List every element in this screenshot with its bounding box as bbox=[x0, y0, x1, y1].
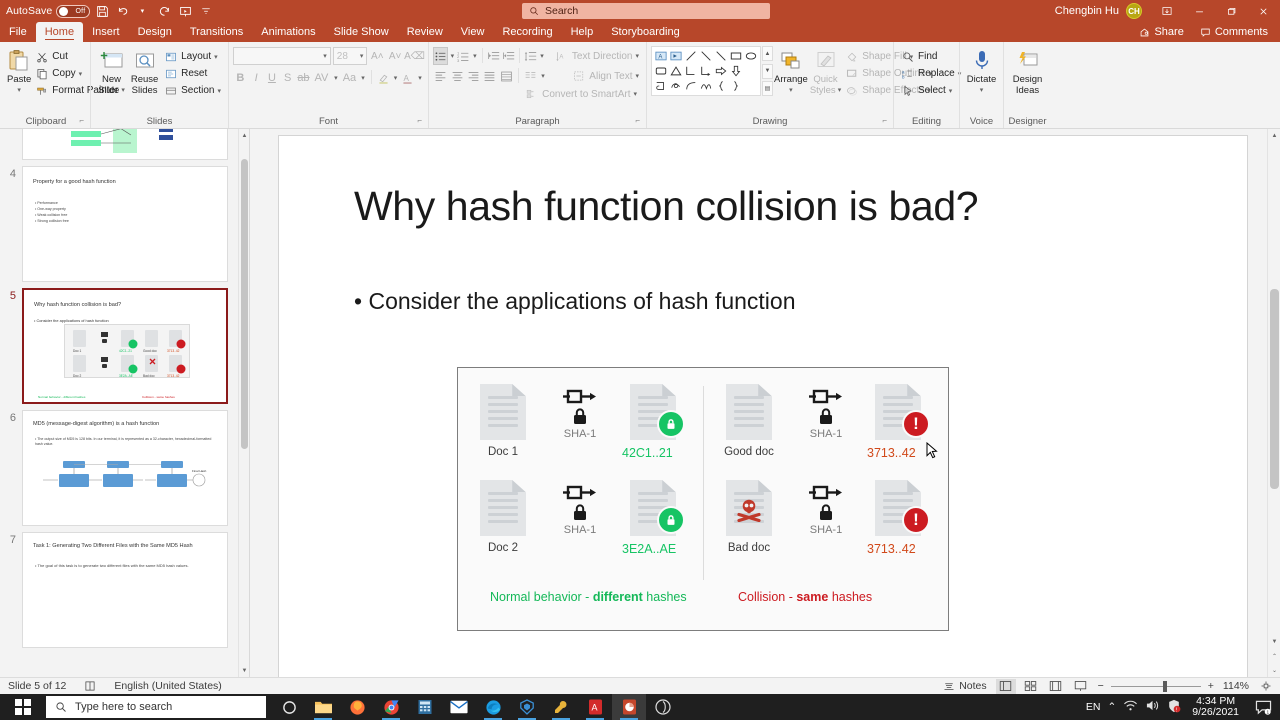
numbering-icon[interactable]: 123 bbox=[457, 47, 471, 65]
dictate-button[interactable]: Dictate ▾ bbox=[964, 46, 999, 98]
svg-text:a: a bbox=[902, 69, 905, 74]
hash-arrow-icon bbox=[563, 388, 597, 406]
tab-home[interactable]: Home bbox=[36, 22, 83, 42]
slide-editor-pane[interactable]: Why hash function collision is bad? Cons… bbox=[250, 129, 1280, 677]
shape-fill-icon bbox=[845, 50, 859, 64]
bold-icon[interactable]: B bbox=[233, 69, 248, 87]
align-right-icon[interactable] bbox=[466, 67, 481, 85]
curve-shape-icon[interactable] bbox=[684, 79, 698, 93]
increase-indent-icon[interactable] bbox=[502, 47, 516, 65]
operation-label: SHA-1 bbox=[564, 524, 596, 536]
shapes-gallery-scroll[interactable]: ▲ ▼ ▤ bbox=[762, 46, 773, 96]
start-presentation-icon[interactable] bbox=[175, 1, 196, 21]
clock-date: 9/26/2021 bbox=[1192, 707, 1239, 718]
slide-scroll-up-icon[interactable]: ▲ bbox=[1268, 129, 1280, 143]
section-button[interactable]: Section ▾ bbox=[161, 82, 224, 99]
diagram-left-caption: Normal behavior - different hashes bbox=[490, 590, 687, 604]
slide-canvas[interactable]: Why hash function collision is bad? Cons… bbox=[279, 136, 1247, 677]
replace-icon: ab bbox=[901, 67, 915, 81]
restore-icon[interactable] bbox=[1216, 0, 1246, 22]
reading-view-icon[interactable] bbox=[1046, 679, 1066, 694]
normal-view-icon[interactable] bbox=[996, 679, 1016, 694]
tab-design[interactable]: Design bbox=[129, 22, 181, 42]
zoom-thumb[interactable] bbox=[1163, 681, 1167, 692]
thumbnail-canvas[interactable]: Keys HashFunction Hashes bbox=[22, 129, 228, 160]
svg-text:b: b bbox=[902, 74, 905, 79]
design-ideas-label2: Ideas bbox=[1016, 85, 1039, 96]
hash-arrow-icon bbox=[809, 388, 843, 406]
svg-text:Final Hash: Final Hash bbox=[192, 469, 207, 473]
tab-recording[interactable]: Recording bbox=[493, 22, 561, 42]
thumbnail-bullet: Strong collision free bbox=[35, 218, 219, 224]
replace-label: Replace bbox=[918, 68, 955, 79]
layout-dropdown-icon[interactable]: ▾ bbox=[214, 53, 218, 61]
layout-button[interactable]: Layout ▾ bbox=[161, 48, 224, 65]
comments-label: Comments bbox=[1215, 26, 1268, 38]
diagram-left-row1-op: SHA-1 bbox=[553, 388, 607, 440]
shape-outline-icon bbox=[845, 67, 859, 81]
diagram-left-row1-hash: 42C1..21 bbox=[630, 384, 676, 460]
search-icon bbox=[55, 701, 67, 713]
oval-shape-icon[interactable] bbox=[744, 49, 758, 63]
mail-icon[interactable] bbox=[442, 694, 476, 720]
undo-icon[interactable] bbox=[113, 1, 134, 21]
svg-text:3E2A..AE: 3E2A..AE bbox=[119, 374, 133, 378]
security-alert-icon[interactable]: ! bbox=[1167, 699, 1181, 716]
ribbon-display-options-icon[interactable] bbox=[1152, 0, 1182, 22]
powerpoint-window: AutoSave Off ▾ MD5 Collision At bbox=[0, 0, 1280, 720]
columns-dropdown-icon[interactable]: ▾ bbox=[539, 67, 547, 85]
notes-button[interactable]: Notes bbox=[939, 679, 990, 693]
thumbnail-scrollbar[interactable]: ▲ ▼ bbox=[238, 129, 249, 677]
customize-quick-access-icon[interactable] bbox=[196, 1, 216, 21]
svg-text:A: A bbox=[559, 54, 563, 60]
elbow-connector-icon[interactable] bbox=[684, 64, 698, 78]
align-left-icon[interactable] bbox=[433, 67, 448, 85]
find-icon bbox=[901, 50, 915, 64]
acrobat-icon[interactable]: A bbox=[578, 694, 612, 720]
action-center-icon[interactable]: 1 bbox=[1250, 694, 1276, 720]
character-spacing-icon[interactable]: AV bbox=[312, 69, 331, 87]
text-direction-button[interactable]: A Text Direction ▾ bbox=[552, 48, 642, 65]
find-button[interactable]: Find bbox=[898, 48, 964, 65]
paragraph-dialog-launcher[interactable]: ⌐ bbox=[635, 114, 640, 127]
paste-button[interactable]: Paste ▾ bbox=[6, 46, 32, 98]
down-arrow-shape-icon[interactable] bbox=[729, 64, 743, 78]
cortana-icon[interactable] bbox=[272, 694, 306, 720]
diagram-right-row1-hash: ! 3713..42 bbox=[875, 384, 921, 460]
new-slide-label2: Slide bbox=[98, 85, 119, 96]
clipboard-dialog-launcher[interactable]: ⌐ bbox=[79, 114, 84, 127]
slide-scroll-down-icon[interactable]: ▼ bbox=[1268, 635, 1280, 649]
reuse-slides-label2: Slides bbox=[132, 85, 158, 96]
convert-to-smartart-label: Convert to SmartArt bbox=[542, 89, 630, 100]
diagram-divider bbox=[703, 386, 704, 580]
slide-bullet[interactable]: Consider the applications of hash functi… bbox=[354, 288, 796, 315]
comments-button[interactable]: Comments bbox=[1194, 25, 1274, 39]
doc-label: Bad doc bbox=[719, 542, 779, 554]
format-painter-icon bbox=[35, 84, 49, 98]
arrange-button[interactable]: Arrange ▾ bbox=[773, 46, 809, 98]
reset-label: Reset bbox=[181, 68, 207, 79]
slide-sorter-icon[interactable] bbox=[1021, 679, 1041, 694]
slides-group-label: Slides bbox=[95, 115, 224, 128]
tab-help[interactable]: Help bbox=[562, 22, 603, 42]
paragraph-group-label: Paragraph ⌐ bbox=[433, 115, 642, 128]
doc-label: Doc 1 bbox=[480, 446, 526, 458]
ribbon-tabs: FileHomeInsertDesignTransitionsAnimation… bbox=[0, 22, 1280, 42]
autosave-toggle[interactable]: Off bbox=[56, 5, 90, 18]
document-icon bbox=[630, 480, 676, 536]
quick-styles-button[interactable]: Quick Styles▾ bbox=[809, 46, 842, 98]
thumbnail-canvas[interactable]: Property for a good hash function Perfor… bbox=[22, 166, 228, 282]
thumbnail-subtitle: • Consider the applications of hash func… bbox=[34, 318, 109, 323]
tab-view[interactable]: View bbox=[452, 22, 494, 42]
ribbon-group-font: ▾ 28 ▾ A˄ A˅ A⌫ B I U S ab AV bbox=[228, 42, 428, 128]
diagram-left-row2-doc: Doc 2 bbox=[480, 480, 526, 554]
language-indicator[interactable]: EN bbox=[1086, 701, 1101, 713]
rectangle-shape-icon[interactable] bbox=[729, 49, 743, 63]
fit-slide-to-window-icon[interactable] bbox=[1256, 679, 1276, 693]
rounded-rect-shape-icon[interactable] bbox=[654, 64, 668, 78]
window-controls: Chengbin Hu CH bbox=[1055, 0, 1280, 22]
double-arrow-shape-icon[interactable] bbox=[714, 49, 728, 63]
reuse-slides-button[interactable]: Reuse Slides bbox=[128, 46, 161, 98]
align-text-label: Align Text bbox=[589, 71, 632, 82]
tools-icon[interactable] bbox=[544, 694, 578, 720]
thumbnail-canvas[interactable]: Task 1: Generating Two Different Files w… bbox=[22, 532, 228, 648]
thumbnail-bullets: The output size of MD5 is 128 bits. In o… bbox=[35, 437, 219, 447]
slide-show-icon[interactable] bbox=[1071, 679, 1091, 694]
autosave-state: Off bbox=[76, 8, 86, 15]
zoom-in-button[interactable]: + bbox=[1206, 680, 1216, 692]
select-button[interactable]: Select ▾ bbox=[898, 82, 964, 99]
thumbnail-slide-7[interactable]: 7 Task 1: Generating Two Different Files… bbox=[0, 529, 238, 651]
columns-icon[interactable] bbox=[523, 67, 538, 85]
unknown-icon[interactable] bbox=[646, 694, 680, 720]
zoom-track[interactable] bbox=[1111, 686, 1201, 687]
hash-value: 3713..42 bbox=[867, 542, 921, 556]
line-shape-icon[interactable] bbox=[684, 49, 698, 63]
diagram-right-row2-doc: Bad doc bbox=[726, 480, 779, 554]
skull-icon bbox=[736, 498, 762, 522]
underline-icon[interactable]: U bbox=[265, 69, 280, 87]
taskbar-search-placeholder: Type here to search bbox=[75, 701, 172, 713]
reuse-slides-label1: Reuse bbox=[131, 74, 158, 85]
avatar[interactable]: CH bbox=[1126, 3, 1142, 19]
thumbnail-caption-green: Normal behavior - different hashes bbox=[38, 395, 85, 399]
numbering-dropdown-icon[interactable]: ▾ bbox=[471, 47, 478, 65]
section-dropdown-icon[interactable]: ▾ bbox=[217, 87, 221, 95]
slide-pane-scrollbar[interactable]: ▲ ▼ ⌃ ⌄ bbox=[1267, 129, 1280, 677]
font-name-input[interactable]: ▾ bbox=[233, 47, 331, 65]
title-bar: AutoSave Off ▾ MD5 Collision At bbox=[0, 0, 1280, 22]
operation-label: SHA-1 bbox=[810, 524, 842, 536]
powerpoint-icon[interactable] bbox=[612, 694, 646, 720]
thumbnail-slide-3[interactable]: 3 Keys HashFunction Hashes bbox=[0, 129, 238, 163]
thumbnail-scroll-down-icon[interactable]: ▼ bbox=[239, 664, 250, 677]
scribble-shape-icon[interactable] bbox=[669, 79, 683, 93]
layout-label: Layout bbox=[181, 51, 211, 62]
font-size-dropdown-icon[interactable]: ▾ bbox=[360, 52, 364, 60]
elbow-arrow-connector-icon[interactable] bbox=[699, 64, 713, 78]
scissors-icon bbox=[35, 50, 49, 64]
svg-text:!: ! bbox=[1176, 707, 1177, 713]
find-label: Find bbox=[918, 51, 937, 62]
line-arrow-shape-icon[interactable] bbox=[699, 49, 713, 63]
ribbon-group-clipboard: Paste ▾ Cut Copy ▾ bbox=[2, 42, 90, 128]
arrange-dropdown-icon[interactable]: ▾ bbox=[789, 85, 793, 96]
thumbnail-title: MD5 (message-digest algorithm) is a hash… bbox=[33, 421, 219, 428]
line-spacing-dropdown-icon[interactable]: ▾ bbox=[539, 47, 546, 65]
replace-button[interactable]: ab Replace ▾ bbox=[898, 65, 964, 82]
ribbon-group-designer: Design Ideas Designer bbox=[1003, 42, 1051, 128]
doc-label: Doc 2 bbox=[480, 542, 526, 554]
grow-font-icon[interactable]: A˄ bbox=[369, 47, 385, 65]
align-text-button[interactable]: Align Text ▾ bbox=[569, 68, 642, 85]
operation-label: SHA-1 bbox=[564, 428, 596, 440]
paste-icon bbox=[8, 48, 30, 74]
scrollbar-more-placeholder bbox=[744, 79, 758, 93]
text-direction-icon: A bbox=[555, 49, 569, 63]
select-icon bbox=[901, 84, 915, 98]
autosave-label: AutoSave bbox=[6, 5, 52, 17]
svg-text:Bad doc: Bad doc bbox=[143, 374, 155, 378]
undo-dropdown-icon[interactable]: ▾ bbox=[134, 1, 154, 21]
tab-file[interactable]: File bbox=[0, 22, 36, 42]
diagram-right-row1-doc: Good doc bbox=[726, 384, 779, 458]
shapes-scroll-down-icon[interactable]: ▼ bbox=[762, 64, 773, 79]
clear-formatting-icon[interactable]: A⌫ bbox=[405, 47, 424, 65]
text-highlight-color-icon[interactable] bbox=[376, 69, 391, 87]
shapes-more-icon[interactable]: ▤ bbox=[762, 81, 773, 96]
svg-text:42C1..21: 42C1..21 bbox=[119, 349, 132, 353]
thumbnail-number: 5 bbox=[0, 288, 22, 302]
font-name-dropdown-icon[interactable]: ▾ bbox=[323, 52, 327, 60]
left-brace-shape-icon[interactable] bbox=[714, 79, 728, 93]
thumbnail-number: 7 bbox=[0, 532, 22, 546]
svg-text:3713..42: 3713..42 bbox=[167, 374, 180, 378]
reset-icon bbox=[164, 67, 178, 81]
lock-icon bbox=[816, 406, 836, 426]
tab-transitions[interactable]: Transitions bbox=[181, 22, 252, 42]
vmware-icon[interactable] bbox=[510, 694, 544, 720]
thumbnail-diagram: Final Hash bbox=[41, 461, 211, 491]
quick-styles-label2: Styles bbox=[810, 85, 836, 96]
editing-group-label: Editing bbox=[898, 115, 955, 128]
section-icon bbox=[164, 84, 178, 98]
slide-diagram-image[interactable]: Doc 1 SHA-1 bbox=[457, 367, 949, 631]
diagram-right-row2-hash: ! 3713..42 bbox=[875, 480, 921, 556]
font-color-icon[interactable]: A bbox=[400, 69, 415, 87]
tab-review[interactable]: Review bbox=[398, 22, 452, 42]
font-size-input[interactable]: 28 ▾ bbox=[333, 47, 368, 65]
show-hidden-icons-icon[interactable]: ⌃ bbox=[1107, 701, 1116, 713]
share-button[interactable]: Share bbox=[1133, 25, 1189, 39]
zoom-level[interactable]: 114% bbox=[1221, 680, 1251, 692]
lock-green-badge-icon bbox=[657, 506, 685, 534]
main-area: 3 Keys HashFunction Hashes bbox=[0, 129, 1280, 677]
text-shadow-icon[interactable]: S bbox=[280, 69, 295, 87]
new-slide-button[interactable]: New Slide▾ bbox=[95, 46, 128, 98]
language-indicator[interactable]: English (United States) bbox=[110, 679, 225, 693]
layout-icon bbox=[164, 50, 178, 64]
font-dialog-launcher[interactable]: ⌐ bbox=[417, 114, 422, 127]
ribbon-group-drawing: A bbox=[646, 42, 893, 128]
windows-start-icon[interactable] bbox=[0, 694, 46, 720]
bullets-icon[interactable] bbox=[433, 47, 448, 65]
shapes-gallery[interactable]: A bbox=[651, 46, 761, 96]
copy-label: Copy bbox=[52, 68, 75, 79]
svg-text:Doc 2: Doc 2 bbox=[73, 374, 82, 378]
slide-scroll-thumb[interactable] bbox=[1270, 289, 1279, 489]
design-ideas-button[interactable]: Design Ideas bbox=[1008, 46, 1047, 98]
clipboard-group-label: Clipboard ⌐ bbox=[6, 115, 86, 128]
system-tray: EN ⌃ ! 4:34 PM 9/26/2021 1 bbox=[1086, 694, 1280, 720]
volume-icon[interactable] bbox=[1145, 699, 1160, 715]
thumbnail-number: 4 bbox=[0, 166, 22, 180]
zoom-out-button[interactable]: − bbox=[1096, 680, 1106, 692]
alert-red-badge-icon: ! bbox=[902, 410, 930, 438]
thumbnail-bullets: Performance One-way property Weak collis… bbox=[35, 200, 219, 224]
paste-dropdown-icon[interactable]: ▾ bbox=[17, 85, 21, 96]
shrink-font-icon[interactable]: A˅ bbox=[387, 47, 403, 65]
previous-slide-icon[interactable]: ⌃ bbox=[1268, 649, 1280, 663]
tab-slide-show[interactable]: Slide Show bbox=[325, 22, 398, 42]
minimize-icon[interactable] bbox=[1184, 0, 1214, 22]
thumbnail-scroll-up-icon[interactable]: ▲ bbox=[239, 129, 250, 142]
thumbnail-slide-6[interactable]: 6 MD5 (message-digest algorithm) is a ha… bbox=[0, 407, 238, 529]
windows-taskbar: Type here to search A EN ⌃ bbox=[0, 694, 1280, 720]
svg-text:A: A bbox=[404, 73, 410, 82]
voice-group-label: Voice bbox=[964, 115, 999, 128]
svg-text:1: 1 bbox=[1266, 709, 1269, 714]
wifi-icon[interactable] bbox=[1123, 699, 1138, 715]
right-brace-shape-icon[interactable] bbox=[729, 79, 743, 93]
dictate-label: Dictate bbox=[967, 74, 997, 85]
thumbnail-number: 6 bbox=[0, 410, 22, 424]
change-case-icon[interactable]: Aa bbox=[341, 69, 358, 87]
accessibility-icon[interactable] bbox=[80, 679, 100, 693]
quick-access-toolbar: AutoSave Off ▾ bbox=[0, 1, 216, 21]
svg-text:3713..42: 3713..42 bbox=[167, 349, 180, 353]
mouse-cursor bbox=[926, 442, 938, 460]
shape-effects-icon bbox=[845, 84, 859, 98]
slide-thumbnail-pane[interactable]: 3 Keys HashFunction Hashes bbox=[0, 129, 250, 677]
tab-animations[interactable]: Animations bbox=[252, 22, 324, 42]
taskbar-clock[interactable]: 4:34 PM 9/26/2021 bbox=[1188, 696, 1243, 718]
drawing-group-label: Drawing ⌐ bbox=[651, 115, 889, 128]
change-case-dropdown-icon[interactable]: ▾ bbox=[359, 69, 367, 87]
copy-dropdown-icon[interactable]: ▾ bbox=[79, 70, 83, 78]
document-icon bbox=[480, 384, 526, 440]
justify-icon[interactable] bbox=[482, 67, 497, 85]
font-color-dropdown-icon[interactable]: ▾ bbox=[416, 69, 424, 87]
thumbnail-canvas[interactable]: Why hash function collision is bad? • Co… bbox=[22, 288, 228, 404]
next-slide-icon[interactable]: ⌄ bbox=[1268, 663, 1280, 677]
ribbon-group-editing: Find ab Replace ▾ Select ▾ bbox=[893, 42, 959, 128]
calculator-icon[interactable] bbox=[408, 694, 442, 720]
svg-text:Doc 1: Doc 1 bbox=[73, 349, 82, 353]
redo-icon[interactable] bbox=[154, 1, 175, 21]
notes-icon bbox=[943, 680, 955, 692]
diagram-left-row2-hash: 3E2A..AE bbox=[630, 480, 676, 556]
taskbar-search-input[interactable]: Type here to search bbox=[46, 696, 266, 718]
dictate-dropdown-icon[interactable]: ▾ bbox=[980, 85, 984, 96]
convert-to-smartart-button[interactable]: Convert to SmartArt ▾ bbox=[522, 86, 640, 103]
designer-group-label: Designer bbox=[1008, 115, 1047, 128]
thumbnail-canvas[interactable]: MD5 (message-digest algorithm) is a hash… bbox=[22, 410, 228, 526]
reset-button[interactable]: Reset bbox=[161, 65, 224, 82]
save-icon[interactable] bbox=[92, 1, 113, 21]
bullets-dropdown-icon[interactable]: ▾ bbox=[449, 47, 456, 65]
slide-counter[interactable]: Slide 5 of 12 bbox=[4, 679, 70, 693]
quick-styles-label1: Quick bbox=[813, 74, 837, 85]
edge-icon[interactable] bbox=[476, 694, 510, 720]
columns-layout-icon[interactable] bbox=[499, 67, 514, 85]
text-highlight-dropdown-icon[interactable]: ▾ bbox=[392, 69, 400, 87]
tab-insert[interactable]: Insert bbox=[83, 22, 129, 42]
document-icon bbox=[480, 480, 526, 536]
strikethrough-icon[interactable]: ab bbox=[296, 69, 311, 87]
thumbnail-slide-5[interactable]: 5 Why hash function collision is bad? • … bbox=[0, 285, 238, 407]
taskbar-apps: A bbox=[272, 694, 680, 720]
flowchart-shape-icon[interactable] bbox=[654, 79, 668, 93]
thumbnail-title: Task 1: Generating Two Different Files w… bbox=[33, 543, 219, 550]
align-center-icon[interactable] bbox=[449, 67, 464, 85]
drawing-dialog-launcher[interactable]: ⌐ bbox=[882, 114, 887, 127]
ribbon-group-paragraph: ▾ 123 ▾ ▾ bbox=[428, 42, 646, 128]
file-explorer-icon[interactable] bbox=[306, 694, 340, 720]
svg-text:A: A bbox=[658, 55, 662, 61]
new-slide-dropdown-icon[interactable]: ▾ bbox=[121, 85, 125, 96]
hash-value: 42C1..21 bbox=[622, 446, 676, 460]
line-spacing-icon[interactable] bbox=[524, 47, 538, 65]
shapes-scroll-up-icon[interactable]: ▲ bbox=[762, 46, 773, 61]
character-spacing-dropdown-icon[interactable]: ▾ bbox=[332, 69, 340, 87]
select-dropdown-icon[interactable]: ▾ bbox=[949, 87, 953, 95]
diagram-left-row2-op: SHA-1 bbox=[553, 484, 607, 536]
right-arrow-shape-icon[interactable] bbox=[714, 64, 728, 78]
ribbon: Paste ▾ Cut Copy ▾ bbox=[0, 42, 1280, 129]
thumbnail-slide-4[interactable]: 4 Property for a good hash function Perf… bbox=[0, 163, 238, 285]
select-label: Select bbox=[918, 85, 946, 96]
thumbnail-scroll-thumb[interactable] bbox=[241, 159, 248, 449]
thumbnail-bullet: The goal of this task is to generate two… bbox=[35, 563, 219, 569]
chrome-icon[interactable] bbox=[374, 694, 408, 720]
close-icon[interactable] bbox=[1248, 0, 1278, 22]
italic-icon[interactable]: I bbox=[249, 69, 264, 87]
textbox-shape-icon[interactable]: A bbox=[654, 49, 668, 63]
arc-shape-icon[interactable] bbox=[699, 79, 713, 93]
slide-title[interactable]: Why hash function collision is bad? bbox=[354, 183, 978, 230]
slide-thumbnail-list: 3 Keys HashFunction Hashes bbox=[0, 129, 238, 677]
triangle-shape-icon[interactable] bbox=[669, 64, 683, 78]
diagram-right-row1-op: SHA-1 bbox=[799, 388, 853, 440]
decrease-indent-icon[interactable] bbox=[487, 47, 501, 65]
search-box[interactable]: Search bbox=[522, 3, 770, 19]
zoom-slider[interactable]: − + 114% bbox=[1096, 680, 1251, 692]
align-text-icon bbox=[572, 69, 586, 83]
arrow-textbox-shape-icon[interactable] bbox=[669, 49, 683, 63]
ribbon-group-slides: New Slide▾ Reuse Slides Layout bbox=[90, 42, 228, 128]
document-icon: ! bbox=[875, 384, 921, 440]
firefox-icon[interactable] bbox=[340, 694, 374, 720]
diagram-right-caption: Collision - same hashes bbox=[738, 590, 872, 604]
tab-storyboarding[interactable]: Storyboarding bbox=[602, 22, 689, 42]
status-bar: Slide 5 of 12 English (United States) No… bbox=[0, 677, 1280, 694]
lock-icon bbox=[570, 406, 590, 426]
